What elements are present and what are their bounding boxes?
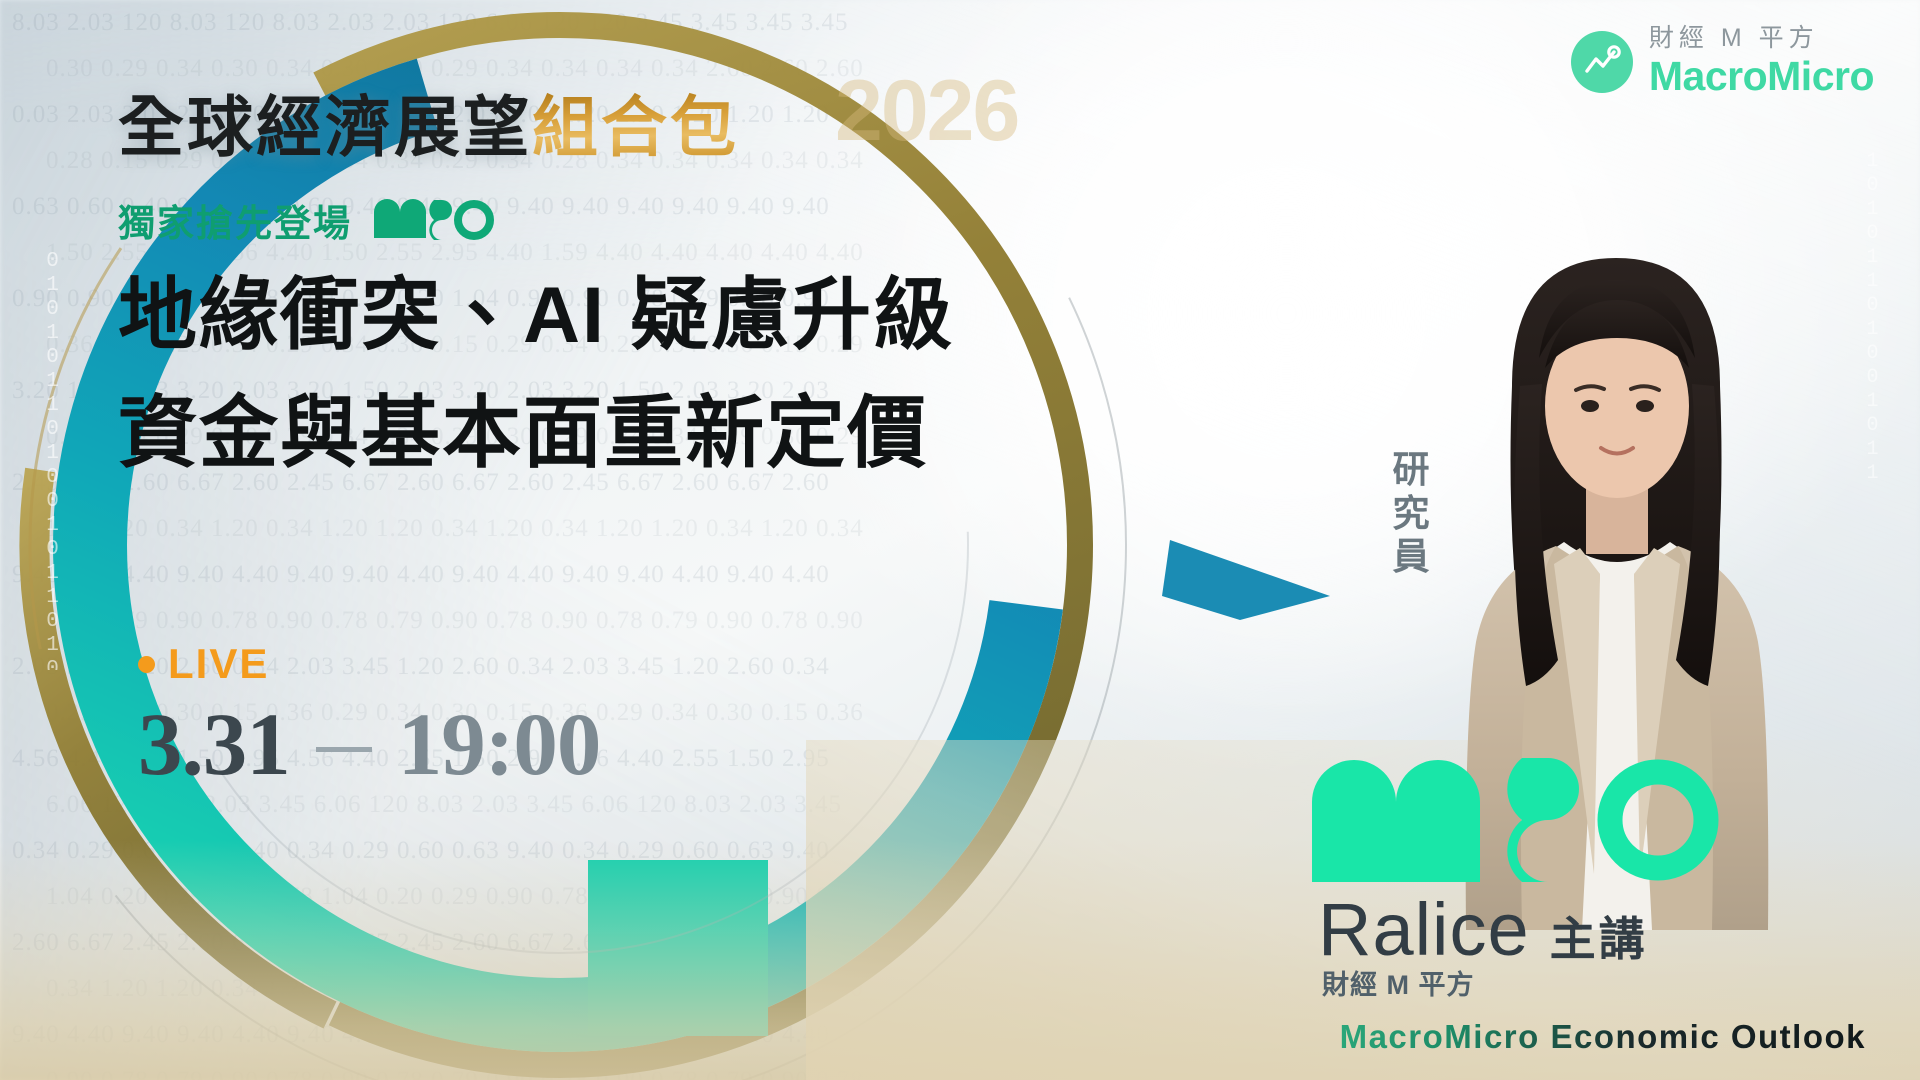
live-badge: LIVE <box>138 640 600 688</box>
headline-line-2: 資金與基本面重新定價 <box>118 383 1178 483</box>
headline-line-1: 地緣衝突、AI 疑慮升級 <box>118 265 1178 365</box>
speaker-organization: 財經 M 平方 <box>1322 963 1475 1002</box>
brand-name-cn: 財經 M 平方 <box>1649 26 1874 51</box>
footer-tagline: MacroMicro Economic Outlook <box>1340 1018 1866 1056</box>
schedule-separator <box>316 747 372 752</box>
live-label: LIVE <box>168 640 269 688</box>
event-time: 19:00 <box>398 694 601 796</box>
event-date: 3.31 <box>138 694 290 796</box>
kicker-dark-text: 全球經濟展望 <box>118 90 532 164</box>
kicker-gold-text: 組合包 <box>532 90 739 164</box>
brand-logo[interactable]: 財經 M 平方 MacroMicro <box>1571 26 1874 97</box>
promo-banner: 8.03 2.03 120 8.03 120 8.03 2.03 2.03 12… <box>0 0 1920 1080</box>
speaker-role-suffix: 主講 <box>1550 903 1648 969</box>
title-block: 全球經濟展望組合包 獨家搶先登場 地緣衝突、AI 疑慮升級 資金與基本面重新定價 <box>118 92 1178 482</box>
meo-logo-mark-icon <box>1308 756 1738 884</box>
speaker-name-row: Ralice 主講 <box>1318 887 1648 972</box>
binary-code-left: 01010110100101101001011010 <box>22 250 64 670</box>
schedule-row: 3.31 19:00 <box>138 694 600 796</box>
chart-line-icon <box>1571 31 1633 93</box>
brand-text: 財經 M 平方 MacroMicro <box>1649 26 1874 97</box>
brand-name-en: MacroMicro <box>1649 56 1874 97</box>
binary-code-right: 10101101001011010010110100 <box>1844 150 1884 480</box>
speaker-name: Ralice <box>1318 887 1530 972</box>
macromicro-meo-mark-icon <box>372 196 494 245</box>
kicker-line: 全球經濟展望組合包 <box>118 92 1178 163</box>
live-schedule-block: LIVE 3.31 19:00 <box>138 640 600 796</box>
exclusive-label: 獨家搶先登場 <box>118 193 352 247</box>
exclusive-row: 獨家搶先登場 <box>118 193 1178 247</box>
live-dot-icon <box>138 656 155 673</box>
